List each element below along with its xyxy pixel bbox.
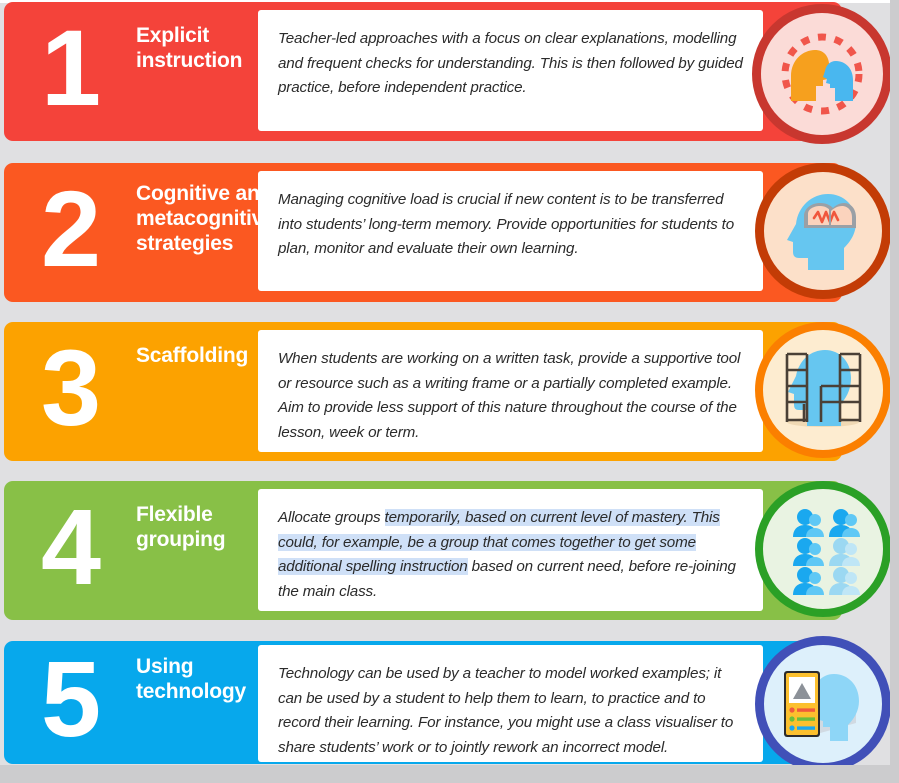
card-title-line: grouping bbox=[136, 528, 254, 553]
card-title-line: Cognitive and bbox=[136, 182, 275, 207]
card-number: 4 bbox=[4, 481, 136, 601]
card-description: When students are working on a written t… bbox=[258, 330, 763, 452]
poster-board: 1 Explicit instruction Teacher-led appro… bbox=[0, 0, 899, 783]
card-title: Cognitive and metacognitive strategies bbox=[136, 163, 275, 256]
card-title-line: metacognitive bbox=[136, 207, 275, 232]
card-title: Using technology bbox=[136, 641, 254, 705]
card-title-line: Explicit bbox=[136, 24, 254, 49]
card-title-line: strategies bbox=[136, 232, 275, 257]
card-title: Scaffolding bbox=[136, 322, 254, 369]
group-of-people-icon bbox=[755, 481, 891, 617]
right-gray-strip bbox=[890, 0, 899, 783]
card-title-line: technology bbox=[136, 680, 254, 705]
head-with-brain-icon bbox=[755, 163, 891, 299]
card-title-line: Scaffolding bbox=[136, 344, 254, 369]
bottom-gray-strip bbox=[0, 765, 899, 783]
card-title-line: Using bbox=[136, 655, 254, 680]
card-title-line: Flexible bbox=[136, 503, 254, 528]
card-number: 5 bbox=[4, 641, 136, 753]
head-with-scaffolding-icon bbox=[755, 322, 891, 458]
tablet-projecting-to-head-icon bbox=[755, 636, 891, 772]
card-scaffolding[interactable]: 3 Scaffolding When students are working … bbox=[4, 322, 842, 461]
card-using-technology[interactable]: 5 Using technology Technology can be use… bbox=[4, 641, 842, 764]
card-description: Managing cognitive load is crucial if ne… bbox=[258, 171, 763, 291]
card-cognitive-metacognitive-strategies[interactable]: 2 Cognitive and metacognitive strategies… bbox=[4, 163, 842, 302]
card-description: Teacher-led approaches with a focus on c… bbox=[258, 10, 763, 131]
card-title: Flexible grouping bbox=[136, 481, 254, 553]
card-flexible-grouping[interactable]: 4 Flexible grouping Allocate groups temp… bbox=[4, 481, 842, 620]
card-title: Explicit instruction bbox=[136, 2, 254, 74]
card-description: Allocate groups temporarily, based on cu… bbox=[258, 489, 763, 611]
card-number: 1 bbox=[4, 2, 136, 122]
card-number: 3 bbox=[4, 322, 136, 442]
card-description: Technology can be used by a teacher to m… bbox=[258, 645, 763, 762]
card-title-line: instruction bbox=[136, 49, 254, 74]
card-explicit-instruction[interactable]: 1 Explicit instruction Teacher-led appro… bbox=[4, 2, 842, 141]
two-facing-heads-dashed-circle-icon bbox=[752, 4, 892, 144]
description-text-before: Allocate groups bbox=[278, 509, 385, 526]
card-number: 2 bbox=[4, 163, 136, 283]
